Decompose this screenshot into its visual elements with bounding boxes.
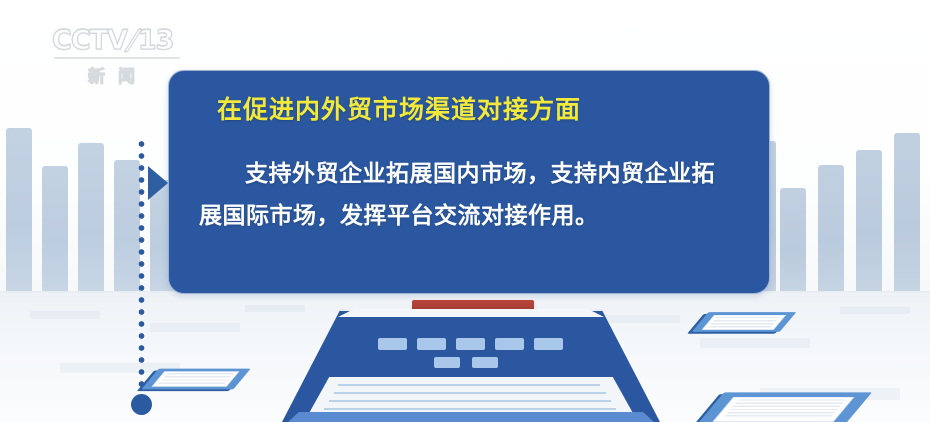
device-key [472, 357, 498, 368]
bar-8 [780, 188, 806, 293]
document-line [338, 384, 600, 386]
floor-tile [840, 307, 910, 314]
bar-4 [114, 160, 140, 293]
document-line [334, 392, 606, 394]
cctv-logo-number: 13 [138, 25, 174, 56]
device-document-area [308, 377, 634, 415]
device-key [534, 338, 563, 350]
cctv-logo-rule [54, 57, 180, 59]
connector-end-dot [131, 394, 152, 415]
arrow-pointer-icon [148, 166, 168, 200]
panel-title: 在促进内外贸市场渠道对接方面 [217, 93, 739, 127]
cctv-logo-text: CCTV [52, 25, 127, 56]
bar-2 [42, 166, 68, 293]
tablet-screen-content [158, 373, 234, 385]
bar-9 [818, 165, 844, 293]
tablet-screen-content [708, 316, 781, 327]
device-key [456, 338, 485, 350]
central-device-illustration [282, 300, 660, 422]
document-line [329, 400, 611, 402]
cctv-logo-wordmark: CCTV/13 [52, 26, 192, 56]
content-panel: 在促进内外贸市场渠道对接方面 支持外贸企业拓展国内市场，支持内贸企业拓展国际市场… [168, 70, 770, 294]
bar-11 [894, 133, 920, 293]
news-graphic-stage: CCTV/13 新闻 在促进内外贸市场渠道对接方面 支持外贸企业拓展国内市场，支… [0, 0, 930, 422]
floor-tile [30, 311, 100, 319]
dotted-connector-line [138, 138, 145, 393]
device-top-strip [338, 309, 604, 317]
device-key [495, 338, 524, 350]
tablet-right-upper [700, 300, 788, 344]
panel-body-text: 支持外贸企业拓展国内市场，支持内贸企业拓展国际市场，发挥平台交流对接作用。 [199, 153, 739, 237]
bar-1 [6, 128, 32, 293]
tablet-screen-content [723, 400, 845, 419]
device-key [434, 357, 460, 368]
device-base [288, 412, 654, 422]
device-key [417, 338, 446, 350]
bar-3 [78, 143, 104, 293]
bar-10 [856, 150, 882, 293]
tablet-right-lower [710, 372, 858, 422]
device-key [378, 338, 407, 350]
tablet-left-small [150, 356, 242, 402]
floor-tile [150, 323, 240, 332]
document-line [324, 408, 616, 410]
